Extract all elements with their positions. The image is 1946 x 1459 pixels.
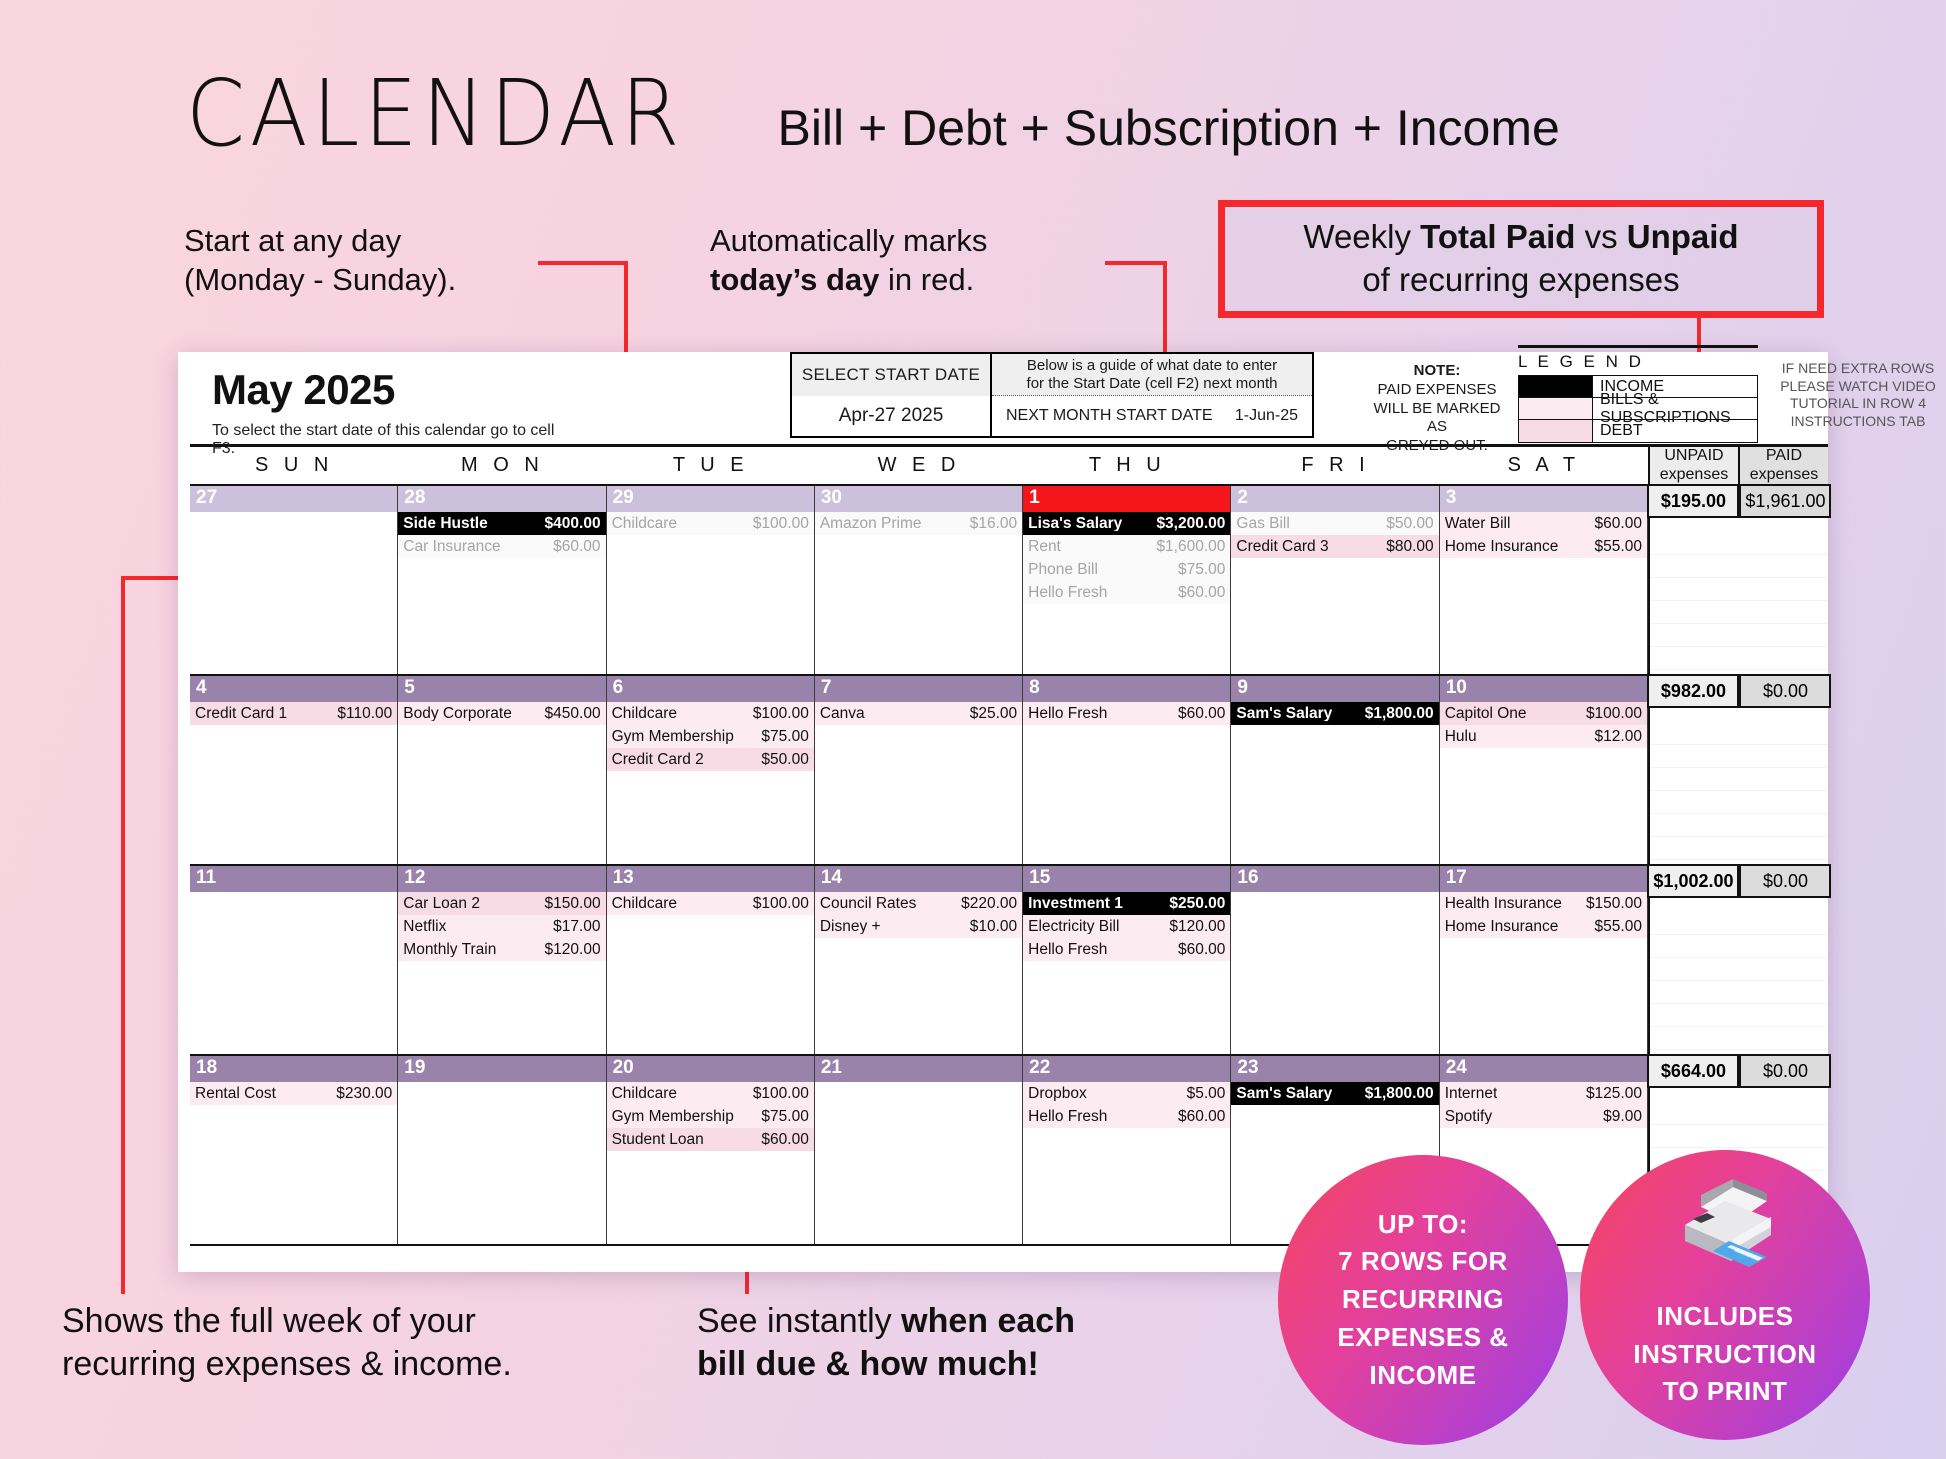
entry-name: Credit Card 3	[1236, 539, 1328, 555]
entry-amount: $25.00	[964, 706, 1017, 722]
day-number-today: 1	[1023, 486, 1230, 512]
start-date-box[interactable]: SELECT START DATE Apr-27 2025 Below is a…	[790, 352, 1314, 438]
entry-amount: $150.00	[1580, 896, 1642, 912]
entry-amount: $100.00	[747, 1086, 809, 1102]
calendar-day-cell[interactable]: 13Childcare$100.00	[607, 866, 815, 1054]
entry-name: Water Bill	[1445, 516, 1511, 532]
day-entries: Hello Fresh$60.00	[1023, 702, 1230, 864]
entry-name: Car Loan 2	[403, 896, 480, 912]
entry-name: Student Loan	[612, 1132, 704, 1148]
entry-name: Netflix	[403, 919, 446, 935]
entry-name: Monthly Train	[403, 942, 496, 958]
entry-name: Investment 1	[1028, 896, 1123, 912]
entry-amount: $3,200.00	[1150, 516, 1225, 532]
day-entries: Health Insurance$150.00Home Insurance$55…	[1440, 892, 1647, 1054]
calendar-day-cell[interactable]: 30Amazon Prime$16.00	[815, 486, 1023, 674]
badge-rows-info: UP TO: 7 ROWS FOR RECURRING EXPENSES & I…	[1278, 1155, 1568, 1445]
calendar-day-cell[interactable]: 8Hello Fresh$60.00	[1023, 676, 1231, 864]
calendar-sheet: May 2025 To select the start date of thi…	[178, 352, 1828, 1272]
weekly-paid-total: $0.00	[1739, 674, 1831, 708]
entry-row-paid[interactable]: Hello Fresh$60.00	[1023, 581, 1230, 604]
day-entries: Council Rates$220.00Disney +$10.00	[815, 892, 1022, 1054]
entry-name: Hello Fresh	[1028, 1109, 1107, 1125]
entry-name: Capitol One	[1445, 706, 1527, 722]
legend-title: L E G E N D	[1518, 345, 1758, 372]
entry-amount: $60.00	[1172, 706, 1225, 722]
day-entries: Body Corporate$450.00	[398, 702, 605, 864]
day-entries	[1231, 892, 1438, 1054]
calendar-day-cell[interactable]: 22Dropbox$5.00Hello Fresh$60.00	[1023, 1056, 1231, 1244]
weekly-paid-total: $1,961.00	[1739, 484, 1831, 518]
day-number: 13	[607, 866, 814, 892]
day-number: 7	[815, 676, 1022, 702]
entry-row[interactable]: Side Hustle$400.00	[398, 512, 605, 535]
calendar-day-cell[interactable]: 12Car Loan 2$150.00Netflix$17.00Monthly …	[398, 866, 606, 1054]
annotation-fullweek-line2: recurring expenses & income.	[62, 1343, 512, 1386]
entry-row[interactable]: Car Loan 2$150.00	[398, 892, 605, 915]
start-date-guide: Below is a guide of what date to enter f…	[992, 354, 1312, 436]
next-month-label: NEXT MONTH START DATE	[1006, 407, 1213, 425]
calendar-day-cell[interactable]: 10Capitol One$100.00Hulu$12.00	[1440, 676, 1648, 864]
day-number: 4	[190, 676, 397, 702]
day-number: 3	[1440, 486, 1647, 512]
entry-name: Gym Membership	[612, 1109, 734, 1125]
day-entries: Amazon Prime$16.00	[815, 512, 1022, 674]
paid-header-line2: expenses	[1750, 466, 1819, 484]
day-entries: Canva$25.00	[815, 702, 1022, 864]
entry-name: Spotify	[1445, 1109, 1492, 1125]
entry-amount: $10.00	[964, 919, 1017, 935]
entry-name: Childcare	[612, 1086, 677, 1102]
connector-line-start	[538, 261, 628, 265]
dow-tue: T U E	[607, 447, 815, 484]
calendar-day-cell[interactable]: 21	[815, 1056, 1023, 1244]
entry-amount: $80.00	[1380, 539, 1433, 555]
weekly-totals-cell: $195.00$1,961.00	[1648, 486, 1828, 674]
badge-print-info: INCLUDES INSTRUCTION TO PRINT	[1580, 1150, 1870, 1440]
day-entries	[815, 1082, 1022, 1244]
note-line1: PAID EXPENSES	[1362, 381, 1512, 400]
entry-amount: $120.00	[1163, 919, 1225, 935]
entry-name: Hello Fresh	[1028, 585, 1107, 601]
entry-row[interactable]: Credit Card 2$50.00	[607, 748, 814, 771]
calendar-day-cell[interactable]: 11	[190, 866, 398, 1054]
entry-name: Health Insurance	[1445, 896, 1562, 912]
entry-row[interactable]: Dropbox$5.00	[1023, 1082, 1230, 1105]
entry-row[interactable]: Water Bill$60.00	[1440, 512, 1647, 535]
entry-amount: $250.00	[1163, 896, 1225, 912]
entry-name: Rent	[1028, 539, 1061, 555]
calendar-day-cell[interactable]: 27	[190, 486, 398, 674]
calendar-day-cell[interactable]: 16	[1231, 866, 1439, 1054]
extra-note-line3: TUTORIAL IN ROW 4	[1768, 395, 1946, 413]
day-number: 30	[815, 486, 1022, 512]
unpaid-header-line1: UNPAID	[1664, 447, 1723, 465]
entry-amount: $16.00	[964, 516, 1017, 532]
totals-grid-lines	[1650, 532, 1828, 670]
paid-header-line1: PAID	[1766, 447, 1802, 465]
entry-row[interactable]: Spotify$9.00	[1440, 1105, 1647, 1128]
guide-line2: for the Start Date (cell F2) next month	[1027, 375, 1278, 393]
guide-line1: Below is a guide of what date to enter	[1027, 357, 1277, 375]
month-title: May 2025	[212, 366, 578, 414]
day-number: 11	[190, 866, 397, 892]
entry-row[interactable]: Canva$25.00	[815, 702, 1022, 725]
weekly-paid-total: $0.00	[1739, 864, 1831, 898]
entry-amount: $110.00	[331, 706, 392, 722]
entry-row[interactable]: Netflix$17.00	[398, 915, 605, 938]
entry-name: Home Insurance	[1445, 539, 1559, 555]
calendar-day-cell[interactable]: 14Council Rates$220.00Disney +$10.00	[815, 866, 1023, 1054]
extra-note-line1: IF NEED EXTRA ROWS	[1768, 360, 1946, 378]
weekly-totals-box: $195.00$1,961.00	[1647, 484, 1831, 518]
annotation-today-tail: in red.	[879, 262, 974, 297]
entry-row[interactable]: Electricity Bill$120.00	[1023, 915, 1230, 938]
day-entries: Sam's Salary$1,800.00	[1231, 702, 1438, 864]
calendar-day-cell[interactable]: 5Body Corporate$450.00	[398, 676, 606, 864]
entry-row[interactable]: Credit Card 3$80.00	[1231, 535, 1438, 558]
calendar-day-cell[interactable]: 4Credit Card 1$110.00	[190, 676, 398, 864]
weekly-totals-box: $982.00$0.00	[1647, 674, 1831, 708]
entry-row-paid[interactable]: Phone Bill$75.00	[1023, 558, 1230, 581]
entry-name: Rental Cost	[195, 1086, 276, 1102]
next-month-value: 1-Jun-25	[1235, 407, 1298, 425]
legend-row: DEBT	[1519, 420, 1757, 442]
entry-name: Home Insurance	[1445, 919, 1559, 935]
calendar-day-cell[interactable]: 18Rental Cost$230.00	[190, 1056, 398, 1244]
entry-amount: $1,600.00	[1150, 539, 1225, 555]
start-date-guide-text: Below is a guide of what date to enter f…	[992, 354, 1312, 396]
entry-amount: $60.00	[547, 539, 600, 555]
weekly-unpaid-total: $982.00	[1647, 674, 1739, 708]
calendar-day-cell[interactable]: 7Canva$25.00	[815, 676, 1023, 864]
connector-line-bottomleft-v	[121, 576, 125, 1294]
note-head: NOTE:	[1362, 362, 1512, 381]
annotation-start-any-day: Start at any day (Monday - Sunday).	[184, 222, 456, 300]
entry-row[interactable]: Home Insurance$55.00	[1440, 915, 1647, 938]
annotation-bill-due: See instantly when each bill due & how m…	[697, 1300, 1075, 1385]
entry-row[interactable]: Gym Membership$75.00	[607, 725, 814, 748]
legend-swatch-debt	[1519, 420, 1593, 442]
entry-row[interactable]: Sam's Salary$1,800.00	[1231, 1082, 1438, 1105]
entry-row[interactable]: Credit Card 1$110.00	[190, 702, 397, 725]
legend-swatch-bills	[1519, 398, 1593, 419]
dow-wed: W E D	[815, 447, 1023, 484]
calendar-week-row: 4Credit Card 1$110.005Body Corporate$450…	[190, 676, 1828, 866]
entry-name: Childcare	[612, 896, 677, 912]
billdue-pre: See instantly	[697, 1302, 901, 1340]
callout-bold-unpaid: Unpaid	[1627, 218, 1739, 255]
badge1-line5: INCOME	[1370, 1357, 1477, 1395]
legend-label-debt: DEBT	[1593, 420, 1757, 442]
entry-amount: $75.00	[755, 1109, 808, 1125]
badge1-line2: 7 ROWS FOR	[1338, 1243, 1508, 1281]
day-number: 20	[607, 1056, 814, 1082]
entry-amount: $75.00	[1172, 562, 1225, 578]
entry-row[interactable]: Childcare$100.00	[607, 892, 814, 915]
entry-name: Electricity Bill	[1028, 919, 1119, 935]
entry-row[interactable]: Student Loan$60.00	[607, 1128, 814, 1151]
calendar-day-cell[interactable]: 15Investment 1$250.00Electricity Bill$12…	[1023, 866, 1231, 1054]
calendar-weeks: 2728Side Hustle$400.00Car Insurance$60.0…	[190, 486, 1828, 1246]
weekly-unpaid-total: $195.00	[1647, 484, 1739, 518]
entry-name: Gas Bill	[1236, 516, 1289, 532]
entry-row[interactable]: Gym Membership$75.00	[607, 1105, 814, 1128]
dow-thu: T H U	[1023, 447, 1231, 484]
badge2-line1: INCLUDES	[1657, 1298, 1794, 1336]
entry-row[interactable]: Lisa's Salary$3,200.00	[1023, 512, 1230, 535]
entry-amount: $75.00	[755, 729, 808, 745]
start-date-left[interactable]: SELECT START DATE Apr-27 2025	[792, 354, 992, 436]
entry-amount: $125.00	[1580, 1086, 1642, 1102]
calendar-week-row: 2728Side Hustle$400.00Car Insurance$60.0…	[190, 486, 1828, 676]
badge2-line3: TO PRINT	[1663, 1373, 1788, 1411]
entry-row[interactable]: Sam's Salary$1,800.00	[1231, 702, 1438, 725]
entry-name: Car Insurance	[403, 539, 500, 555]
weekly-unpaid-total: $664.00	[1647, 1054, 1739, 1088]
entry-name: Side Hustle	[403, 516, 487, 532]
day-number: 10	[1440, 676, 1647, 702]
calendar-day-cell[interactable]: 2Gas Bill$50.00Credit Card 3$80.00	[1231, 486, 1439, 674]
calendar-day-cell[interactable]: 6Childcare$100.00Gym Membership$75.00Cre…	[607, 676, 815, 864]
calendar-week-row: 1112Car Loan 2$150.00Netflix$17.00Monthl…	[190, 866, 1828, 1056]
entry-amount: $450.00	[539, 706, 601, 722]
weekly-totals-box: $664.00$0.00	[1647, 1054, 1831, 1088]
day-entries: Capitol One$100.00Hulu$12.00	[1440, 702, 1647, 864]
callout-weekly-totals: Weekly Total Paid vs Unpaid of recurring…	[1218, 200, 1824, 318]
weekly-unpaid-total: $1,002.00	[1647, 864, 1739, 898]
calendar-week-row: 18Rental Cost$230.001920Childcare$100.00…	[190, 1056, 1828, 1246]
day-number: 27	[190, 486, 397, 512]
day-number: 28	[398, 486, 605, 512]
entry-row[interactable]: Hulu$12.00	[1440, 725, 1647, 748]
entry-row[interactable]: Rental Cost$230.00	[190, 1082, 397, 1105]
entry-amount: $12.00	[1589, 729, 1642, 745]
totals-grid-lines	[1650, 722, 1828, 860]
month-block: May 2025 To select the start date of thi…	[178, 352, 578, 444]
weekly-totals-box: $1,002.00$0.00	[1647, 864, 1831, 898]
day-entries: Rental Cost$230.00	[190, 1082, 397, 1244]
day-number: 9	[1231, 676, 1438, 702]
entry-row[interactable]: Council Rates$220.00	[815, 892, 1022, 915]
entry-amount: $400.00	[539, 516, 601, 532]
annotation-full-week: Shows the full week of your recurring ex…	[62, 1300, 512, 1385]
entry-row[interactable]: Investment 1$250.00	[1023, 892, 1230, 915]
calendar-day-cell[interactable]: 17Health Insurance$150.00Home Insurance$…	[1440, 866, 1648, 1054]
day-entries: Childcare$100.00Gym Membership$75.00Cred…	[607, 702, 814, 864]
badge1-line1: UP TO:	[1378, 1206, 1468, 1244]
day-number: 29	[607, 486, 814, 512]
callout-line2: of recurring expenses	[1362, 259, 1679, 302]
annotation-billdue-line1: See instantly when each	[697, 1300, 1075, 1343]
day-number: 17	[1440, 866, 1647, 892]
page-title: CALENDAR	[186, 60, 684, 167]
day-entries: Childcare$100.00	[607, 892, 814, 1054]
entry-amount: $220.00	[955, 896, 1017, 912]
entry-amount: $60.00	[1172, 942, 1225, 958]
day-entries: Car Loan 2$150.00Netflix$17.00Monthly Tr…	[398, 892, 605, 1054]
weekly-totals-cell: $1,002.00$0.00	[1648, 866, 1828, 1054]
legend-label-bills: BILLS & SUBSCRIPTIONS	[1593, 398, 1757, 419]
entry-row-paid[interactable]: Rent$1,600.00	[1023, 535, 1230, 558]
page-subtitle: Bill + Debt + Subscription + Income	[777, 99, 1559, 157]
calendar-day-cell[interactable]: 1Lisa's Salary$3,200.00Rent$1,600.00Phon…	[1023, 486, 1231, 674]
billdue-bold1: when each	[901, 1302, 1075, 1340]
calendar-day-cell[interactable]: 3Water Bill$60.00Home Insurance$55.00	[1440, 486, 1648, 674]
legend-rows: INCOME BILLS & SUBSCRIPTIONS DEBT	[1518, 375, 1758, 443]
annotation-today-bold: today’s day	[710, 262, 879, 297]
entry-row[interactable]: Hello Fresh$60.00	[1023, 702, 1230, 725]
badge2-line2: INSTRUCTION	[1633, 1336, 1816, 1374]
entry-row-paid[interactable]: Amazon Prime$16.00	[815, 512, 1022, 535]
extra-note-line2: PLEASE WATCH VIDEO	[1768, 378, 1946, 396]
entry-amount: $100.00	[747, 896, 809, 912]
entry-amount: $60.00	[755, 1132, 808, 1148]
entry-name: Gym Membership	[612, 729, 734, 745]
callout-mid: vs	[1575, 218, 1626, 255]
entry-name: Body Corporate	[403, 706, 512, 722]
billdue-bold2: bill due & how much!	[697, 1345, 1039, 1383]
day-of-week-header: S U N M O N T U E W E D T H U F R I S A …	[190, 444, 1828, 486]
entry-row[interactable]: Childcare$100.00	[607, 1082, 814, 1105]
extra-note-line4: INSTRUCTIONS TAB	[1768, 413, 1946, 431]
calendar-day-cell[interactable]: 20Childcare$100.00Gym Membership$75.00St…	[607, 1056, 815, 1244]
entry-row-paid[interactable]: Gas Bill$50.00	[1231, 512, 1438, 535]
day-number: 12	[398, 866, 605, 892]
badge1-line4: EXPENSES &	[1337, 1319, 1508, 1357]
totals-grid-lines	[1650, 912, 1828, 1050]
callout-pre: Weekly	[1303, 218, 1420, 255]
day-entries	[398, 1082, 605, 1244]
unpaid-header: UNPAID expenses	[1650, 447, 1738, 484]
day-entries: Credit Card 1$110.00	[190, 702, 397, 864]
weekly-totals-cell: $982.00$0.00	[1648, 676, 1828, 864]
entry-amount: $50.00	[1380, 516, 1433, 532]
calendar-day-cell[interactable]: 29Childcare$100.00	[607, 486, 815, 674]
day-entries: Childcare$100.00Gym Membership$75.00Stud…	[607, 1082, 814, 1244]
totals-header: UNPAID expenses PAID expenses	[1648, 447, 1828, 484]
entry-row[interactable]: Body Corporate$450.00	[398, 702, 605, 725]
day-entries: Gas Bill$50.00Credit Card 3$80.00	[1231, 512, 1438, 674]
entry-row[interactable]: Disney +$10.00	[815, 915, 1022, 938]
entry-amount: $17.00	[547, 919, 600, 935]
entry-amount: $100.00	[747, 516, 809, 532]
annotation-today-marked: Automatically marks today’s day in red.	[710, 222, 987, 300]
day-entries: Lisa's Salary$3,200.00Rent$1,600.00Phone…	[1023, 512, 1230, 674]
entry-amount: $60.00	[1589, 516, 1642, 532]
entry-amount: $1,800.00	[1359, 706, 1434, 722]
entry-row[interactable]: Hello Fresh$60.00	[1023, 1105, 1230, 1128]
day-entries: Dropbox$5.00Hello Fresh$60.00	[1023, 1082, 1230, 1244]
extra-rows-note: IF NEED EXTRA ROWS PLEASE WATCH VIDEO TU…	[1768, 360, 1946, 430]
entry-name: Sam's Salary	[1236, 1086, 1332, 1102]
entry-amount: $5.00	[1181, 1086, 1226, 1102]
day-number: 18	[190, 1056, 397, 1082]
legend: L E G E N D INCOME BILLS & SUBSCRIPTIONS…	[1518, 345, 1758, 443]
entry-name: Childcare	[612, 516, 677, 532]
day-entries: Water Bill$60.00Home Insurance$55.00	[1440, 512, 1647, 674]
entry-amount: $150.00	[539, 896, 601, 912]
day-number: 15	[1023, 866, 1230, 892]
annotation-start-line1: Start at any day	[184, 222, 456, 261]
entry-row-paid[interactable]: Car Insurance$60.00	[398, 535, 605, 558]
calendar-day-cell[interactable]: 28Side Hustle$400.00Car Insurance$60.00	[398, 486, 606, 674]
callout-bold-paid: Total Paid	[1420, 218, 1575, 255]
entry-amount: $60.00	[1172, 1109, 1225, 1125]
legend-swatch-income	[1519, 376, 1593, 397]
connector-line-today	[1105, 261, 1167, 265]
entry-row[interactable]: Internet$125.00	[1440, 1082, 1647, 1105]
entry-name: Internet	[1445, 1086, 1498, 1102]
entry-name: Council Rates	[820, 896, 917, 912]
start-date-label: SELECT START DATE	[792, 354, 990, 396]
entry-row[interactable]: Home Insurance$55.00	[1440, 535, 1647, 558]
entry-row[interactable]: Capitol One$100.00	[1440, 702, 1647, 725]
day-number: 5	[398, 676, 605, 702]
unpaid-header-line2: expenses	[1660, 466, 1729, 484]
entry-name: Hello Fresh	[1028, 706, 1107, 722]
entry-amount: $50.00	[755, 752, 808, 768]
entry-name: Amazon Prime	[820, 516, 922, 532]
printer-icon	[1671, 1179, 1779, 1282]
dow-sun: S U N	[190, 447, 398, 484]
entry-row[interactable]: Monthly Train$120.00	[398, 938, 605, 961]
day-number: 23	[1231, 1056, 1438, 1082]
day-entries	[190, 512, 397, 674]
annotation-fullweek-line1: Shows the full week of your	[62, 1300, 512, 1343]
badge1-line3: RECURRING	[1342, 1281, 1504, 1319]
entry-name: Credit Card 1	[195, 706, 287, 722]
day-number: 14	[815, 866, 1022, 892]
day-number: 16	[1231, 866, 1438, 892]
entry-amount: $100.00	[1580, 706, 1642, 722]
page-header: CALENDAR Bill + Debt + Subscription + In…	[186, 60, 1560, 167]
callout-line1: Weekly Total Paid vs Unpaid	[1303, 216, 1738, 259]
entry-amount: $60.00	[1172, 585, 1225, 601]
calendar-day-cell[interactable]: 19	[398, 1056, 606, 1244]
note-line2: WILL BE MARKED AS	[1362, 400, 1512, 438]
entry-row[interactable]: Health Insurance$150.00	[1440, 892, 1647, 915]
entry-name: Canva	[820, 706, 865, 722]
day-number: 8	[1023, 676, 1230, 702]
annotation-today-line2: today’s day in red.	[710, 261, 987, 300]
entry-row-paid[interactable]: Childcare$100.00	[607, 512, 814, 535]
entry-name: Phone Bill	[1028, 562, 1098, 578]
entry-name: Lisa's Salary	[1028, 516, 1122, 532]
entry-amount: $55.00	[1589, 539, 1642, 555]
day-number: 24	[1440, 1056, 1647, 1082]
note-block: NOTE: PAID EXPENSES WILL BE MARKED AS GR…	[1362, 362, 1512, 456]
entry-name: Hello Fresh	[1028, 942, 1107, 958]
day-number: 6	[607, 676, 814, 702]
entry-amount: $100.00	[747, 706, 809, 722]
entry-row[interactable]: Childcare$100.00	[607, 702, 814, 725]
entry-row[interactable]: Hello Fresh$60.00	[1023, 938, 1230, 961]
day-entries: Investment 1$250.00Electricity Bill$120.…	[1023, 892, 1230, 1054]
note-line3: GREYED OUT.	[1362, 437, 1512, 456]
start-date-value[interactable]: Apr-27 2025	[792, 396, 990, 436]
legend-row: BILLS & SUBSCRIPTIONS	[1519, 398, 1757, 420]
next-month-row: NEXT MONTH START DATE 1-Jun-25	[992, 396, 1312, 436]
calendar-day-cell[interactable]: 9Sam's Salary$1,800.00	[1231, 676, 1439, 864]
entry-name: Disney +	[820, 919, 881, 935]
annotation-billdue-line2: bill due & how much!	[697, 1343, 1075, 1386]
entry-amount: $230.00	[330, 1086, 392, 1102]
day-number: 21	[815, 1056, 1022, 1082]
entry-amount: $55.00	[1589, 919, 1642, 935]
annotation-start-line2: (Monday - Sunday).	[184, 261, 456, 300]
weekly-paid-total: $0.00	[1739, 1054, 1831, 1088]
